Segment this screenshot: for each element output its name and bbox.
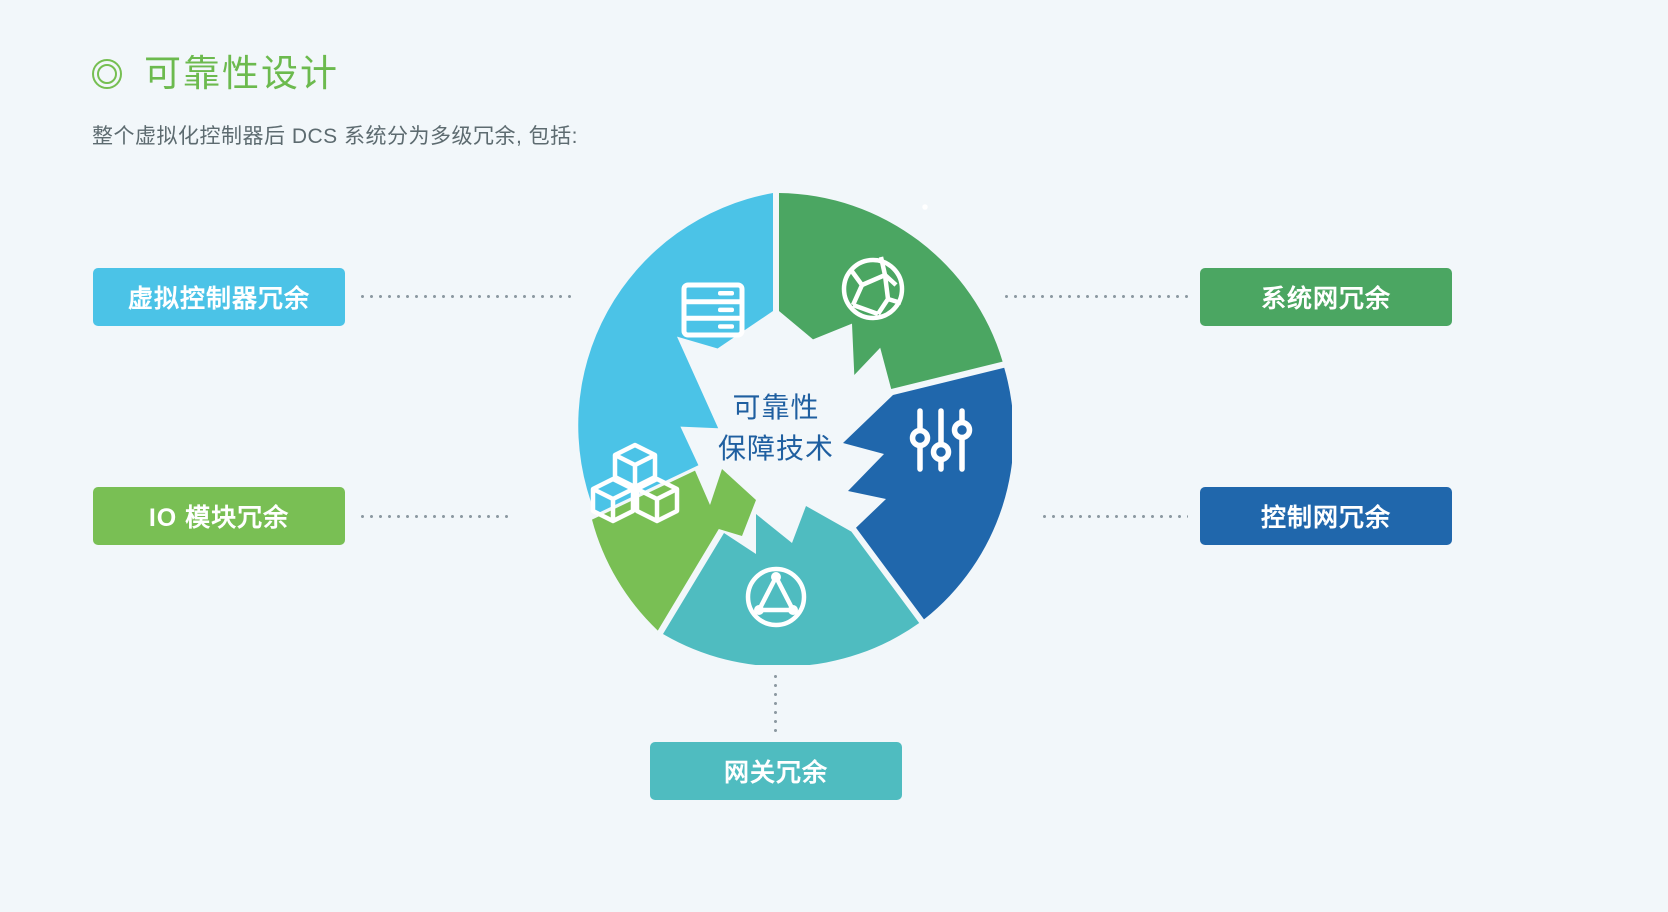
label-gateway-redundancy[interactable]: 网关冗余 — [650, 742, 902, 800]
reliability-design-infographic: 可靠性设计 整个虚拟化控制器后 DCS 系统分为多级冗余, 包括: 虚拟控制器冗… — [0, 0, 1668, 912]
page-title: 可靠性设计 — [144, 55, 339, 92]
label-system-network-redundancy[interactable]: 系统网冗余 — [1200, 268, 1452, 326]
label-io-module-redundancy[interactable]: IO 模块冗余 — [93, 487, 345, 545]
connector-gateway — [774, 672, 777, 734]
header: 可靠性设计 整个虚拟化控制器后 DCS 系统分为多级冗余, 包括: — [92, 55, 578, 150]
connector-system-network — [1002, 295, 1188, 298]
segment-virtual-controller[interactable] — [578, 193, 773, 514]
page-subtitle: 整个虚拟化控制器后 DCS 系统分为多级冗余, 包括: — [92, 120, 578, 150]
label-virtual-controller-redundancy[interactable]: 虚拟控制器冗余 — [93, 268, 345, 326]
connector-control-network — [1040, 515, 1188, 518]
page-title-row: 可靠性设计 — [92, 55, 578, 92]
connector-io-module — [358, 515, 508, 518]
label-control-network-redundancy[interactable]: 控制网冗余 — [1200, 487, 1452, 545]
circle-target-icon — [92, 59, 122, 89]
redundancy-donut-diagram: 可靠性 保障技术 — [540, 193, 1012, 665]
segment-system-network[interactable] — [779, 193, 1003, 389]
